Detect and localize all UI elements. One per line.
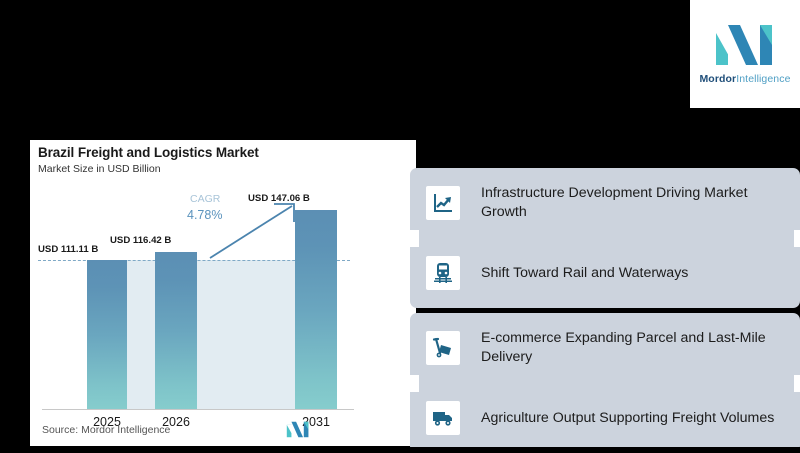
brand-logo-text: MordorIntelligence: [699, 74, 790, 85]
feature-label-agriculture: Agriculture Output Supporting Freight Vo…: [481, 409, 774, 428]
mordor-m-logo-icon: [714, 23, 776, 67]
bar-2026: [155, 252, 197, 410]
bar-value-label-2026: USD 116.42 B: [110, 235, 171, 246]
feature-label-rail-waterways: Shift Toward Rail and Waterways: [481, 264, 688, 283]
chart-source-text: Source: Mordor Intelligence: [42, 424, 170, 436]
bar-chart-plot: USD 111.11 B USD 116.42 B USD 147.06 B C…: [30, 190, 416, 410]
screenshot-root: MordorIntelligence Brazil Freight and Lo…: [0, 0, 800, 453]
feature-label-ecommerce: E-commerce Expanding Parcel and Last-Mil…: [481, 329, 781, 366]
feature-panel-group-2: E-commerce Expanding Parcel and Last-Mil…: [410, 313, 800, 453]
brand-name-light: Intelligence: [736, 73, 790, 85]
chart-card: Brazil Freight and Logistics Market Mark…: [30, 140, 416, 446]
feature-item-infrastructure[interactable]: Infrastructure Development Driving Marke…: [410, 168, 800, 238]
bar-value-label-2025: USD 111.11 B: [38, 244, 98, 255]
chart-band-2: [197, 260, 295, 410]
delivery-truck-icon: [426, 401, 460, 435]
x-axis-line: [42, 409, 354, 410]
cagr-arrow-icon: [208, 196, 304, 262]
feature-item-agriculture[interactable]: Agriculture Output Supporting Freight Vo…: [410, 383, 800, 453]
chart-band-1: [127, 260, 155, 410]
mordor-m-logo-small-icon: [285, 421, 311, 438]
feature-item-ecommerce[interactable]: E-commerce Expanding Parcel and Last-Mil…: [410, 313, 800, 383]
bottom-black-bar: [0, 447, 800, 453]
feature-panel-group-1: Infrastructure Development Driving Marke…: [410, 168, 800, 308]
feature-item-rail-waterways[interactable]: Shift Toward Rail and Waterways: [410, 238, 800, 308]
growth-chart-icon: [426, 186, 460, 220]
chart-subtitle: Market Size in USD Billion: [38, 163, 161, 175]
brand-logo-card: MordorIntelligence: [690, 0, 800, 108]
brand-name-bold: Mordor: [699, 73, 736, 85]
feature-label-infrastructure: Infrastructure Development Driving Marke…: [481, 184, 781, 221]
chart-title: Brazil Freight and Logistics Market: [38, 145, 259, 160]
bar-2025: [87, 260, 127, 410]
hand-truck-icon: [426, 331, 460, 365]
train-icon: [426, 256, 460, 290]
